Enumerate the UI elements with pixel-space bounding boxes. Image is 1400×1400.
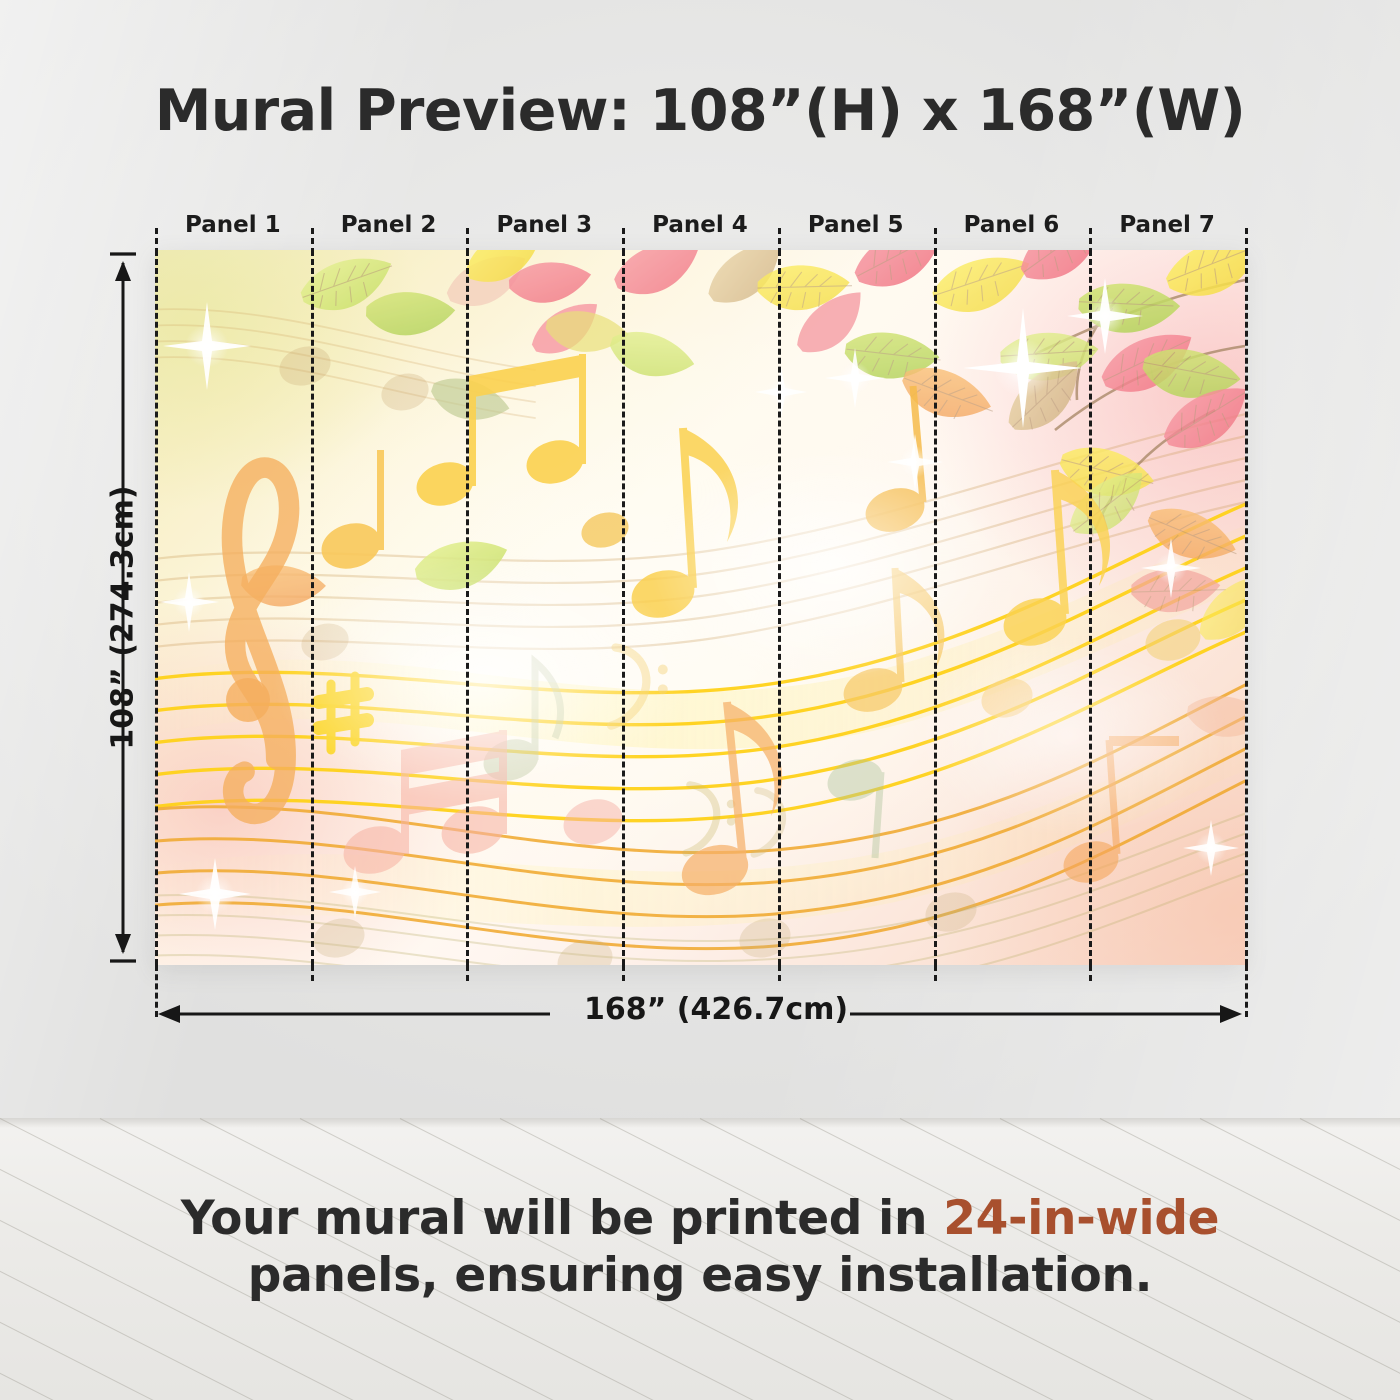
panel-label-5: Panel 5	[778, 212, 934, 238]
panel-guide-bottom-4	[778, 965, 781, 981]
panel-divider-2	[466, 250, 469, 965]
caption-line-2: panels, ensuring easy installation.	[0, 1247, 1400, 1304]
panel-guide-bottom-1	[311, 965, 314, 981]
panel-label-2: Panel 2	[311, 212, 467, 238]
panel-guide-bottom-7	[1245, 965, 1248, 1017]
mural-preview-page: Mural Preview: 108”(H) x 168”(W) Panel 1…	[0, 0, 1400, 1400]
height-dimension-label: 108” (274.3cm)	[106, 408, 141, 828]
panel-guide-top-5	[934, 228, 937, 254]
caption-accent-panel-width: 24-in-wide	[943, 1191, 1219, 1246]
mural-image	[155, 250, 1245, 965]
panel-label-3: Panel 3	[466, 212, 622, 238]
panel-divider-6	[1089, 250, 1092, 965]
panel-guide-top-2	[466, 228, 469, 254]
mural-highlight-glow	[155, 250, 1245, 965]
caption-line-1: Your mural will be printed in 24-in-wide	[0, 1190, 1400, 1247]
mural-edge-right	[1245, 250, 1248, 965]
panel-guide-bottom-2	[466, 965, 469, 981]
panel-guide-bottom-6	[1089, 965, 1092, 981]
panel-guide-bottom-3	[622, 965, 625, 981]
panel-guide-top-3	[622, 228, 625, 254]
width-dimension-label: 168” (426.7cm)	[570, 992, 862, 1027]
panel-divider-3	[622, 250, 625, 965]
caption-line-1-before: Your mural will be printed in	[181, 1191, 943, 1246]
mural-edge-left	[155, 250, 158, 965]
panel-guide-bottom-0	[155, 965, 158, 1017]
mural-artwork[interactable]	[155, 250, 1245, 965]
page-title: Mural Preview: 108”(H) x 168”(W)	[0, 78, 1400, 144]
panel-guide-top-1	[311, 228, 314, 254]
panel-label-6: Panel 6	[933, 212, 1089, 238]
panel-label-7: Panel 7	[1089, 212, 1245, 238]
panel-divider-4	[778, 250, 781, 965]
panel-label-4: Panel 4	[622, 212, 778, 238]
footer-caption: Your mural will be printed in 24-in-wide…	[0, 1190, 1400, 1305]
panel-guide-top-6	[1089, 228, 1092, 254]
panel-guide-bottom-5	[934, 965, 937, 981]
panel-divider-1	[311, 250, 314, 965]
panel-guide-top-4	[778, 228, 781, 254]
panel-label-1: Panel 1	[155, 212, 311, 238]
panel-divider-5	[934, 250, 937, 965]
